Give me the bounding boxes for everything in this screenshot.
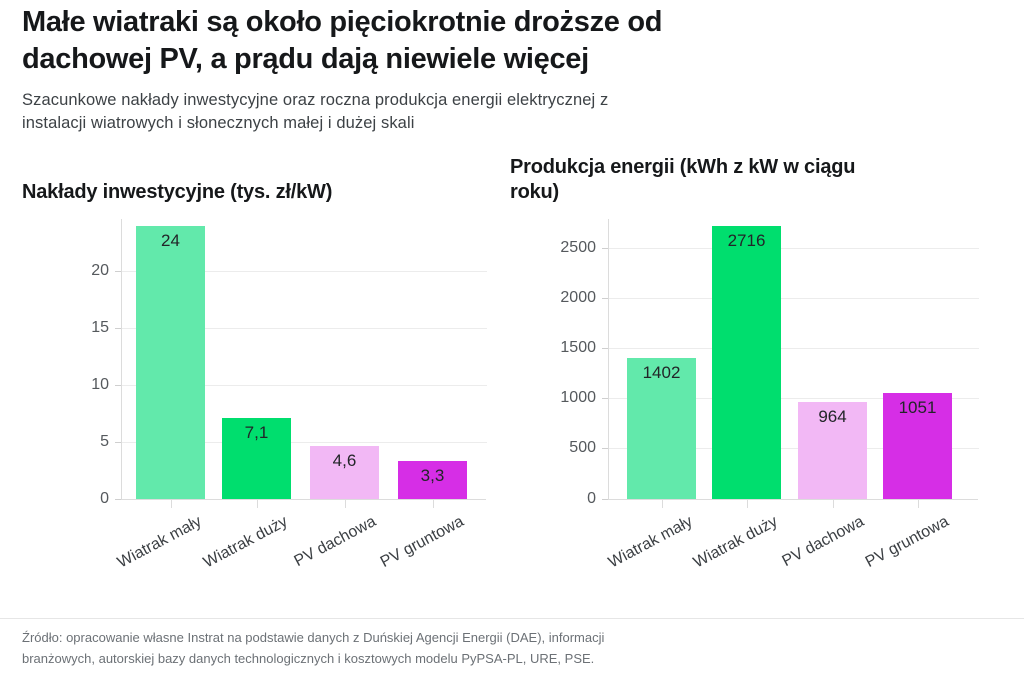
source-note: Źródło: opracowanie własne Instrat na po… xyxy=(22,628,882,670)
bar[interactable]: 2716 xyxy=(712,226,781,499)
x-axis-category-label: Wiatrak duży xyxy=(201,513,291,572)
x-axis-category-label: Wiatrak mały xyxy=(606,513,696,572)
page-title: Małe wiatraki są około pięciokrotnie dro… xyxy=(22,4,992,77)
x-axis-category-label: PV gruntowa xyxy=(378,513,467,572)
y-tick-mark xyxy=(602,448,608,449)
x-tick-mark xyxy=(833,500,834,508)
x-axis-category-label: PV dachowa xyxy=(291,513,379,571)
chart-panel-capex: Nakłady inwestycyjne (tys. zł/kW) 051015… xyxy=(18,180,498,610)
y-tick-mark xyxy=(115,499,121,500)
y-tick-label: 15 xyxy=(91,319,109,337)
plot-area-production: 050010001500200025001402Wiatrak mały2716… xyxy=(508,219,1008,509)
gridline xyxy=(609,298,979,299)
y-tick-label: 1000 xyxy=(560,389,596,407)
x-axis-category-label: PV gruntowa xyxy=(863,513,952,572)
y-tick-label: 10 xyxy=(91,376,109,394)
bar-value-label: 7,1 xyxy=(222,423,291,443)
y-tick-label: 0 xyxy=(100,490,109,508)
header: Małe wiatraki są około pięciokrotnie dro… xyxy=(22,4,992,136)
bar[interactable]: 1051 xyxy=(883,393,952,498)
bar[interactable]: 4,6 xyxy=(310,446,379,498)
x-axis-line xyxy=(121,499,486,500)
y-tick-label: 5 xyxy=(100,433,109,451)
y-tick-label: 2000 xyxy=(560,289,596,307)
chart-panel-production: Produkcja energii (kWh z kW w ciągu roku… xyxy=(508,155,1008,610)
bar[interactable]: 3,3 xyxy=(398,461,467,499)
bar-value-label: 1051 xyxy=(883,398,952,418)
y-tick-label: 1500 xyxy=(560,339,596,357)
x-axis-category-label: Wiatrak mały xyxy=(115,513,205,572)
x-axis-category-label: Wiatrak duży xyxy=(691,513,781,572)
footer-divider xyxy=(0,618,1024,619)
bar-value-label: 964 xyxy=(798,407,867,427)
x-tick-mark xyxy=(918,500,919,508)
gridline xyxy=(609,248,979,249)
x-tick-mark xyxy=(171,500,172,508)
plot-area-capex: 0510152024Wiatrak mały7,1Wiatrak duży4,6… xyxy=(18,219,498,509)
bar-value-label: 4,6 xyxy=(310,451,379,471)
bar[interactable]: 964 xyxy=(798,402,867,499)
bar-value-label: 3,3 xyxy=(398,466,467,486)
x-tick-mark xyxy=(747,500,748,508)
y-tick-mark xyxy=(115,442,121,443)
x-tick-mark xyxy=(345,500,346,508)
y-tick-label: 500 xyxy=(569,439,596,457)
y-tick-label: 0 xyxy=(587,490,596,508)
y-tick-mark xyxy=(602,499,608,500)
x-tick-mark xyxy=(257,500,258,508)
bar[interactable]: 1402 xyxy=(627,358,696,499)
y-tick-mark xyxy=(115,385,121,386)
page-subtitle: Szacunkowe nakłady inwestycyjne oraz roc… xyxy=(22,89,992,136)
y-tick-mark xyxy=(115,328,121,329)
bar-value-label: 2716 xyxy=(712,231,781,251)
chart-title-capex: Nakłady inwestycyjne (tys. zł/kW) xyxy=(18,180,498,205)
gridline xyxy=(609,348,979,349)
y-axis-line xyxy=(121,219,122,499)
y-tick-label: 2500 xyxy=(560,239,596,257)
y-tick-mark xyxy=(115,271,121,272)
bar[interactable]: 7,1 xyxy=(222,418,291,499)
y-tick-mark xyxy=(602,298,608,299)
bar[interactable]: 24 xyxy=(136,226,205,499)
x-tick-mark xyxy=(433,500,434,508)
bar-value-label: 1402 xyxy=(627,363,696,383)
x-axis-category-label: PV dachowa xyxy=(779,513,867,571)
y-axis-line xyxy=(608,219,609,499)
x-axis-line xyxy=(608,499,978,500)
x-tick-mark xyxy=(662,500,663,508)
y-tick-mark xyxy=(602,348,608,349)
y-tick-mark xyxy=(602,398,608,399)
y-tick-mark xyxy=(602,248,608,249)
chart-title-production: Produkcja energii (kWh z kW w ciągu roku… xyxy=(508,155,1008,205)
bar-value-label: 24 xyxy=(136,231,205,251)
y-tick-label: 20 xyxy=(91,262,109,280)
